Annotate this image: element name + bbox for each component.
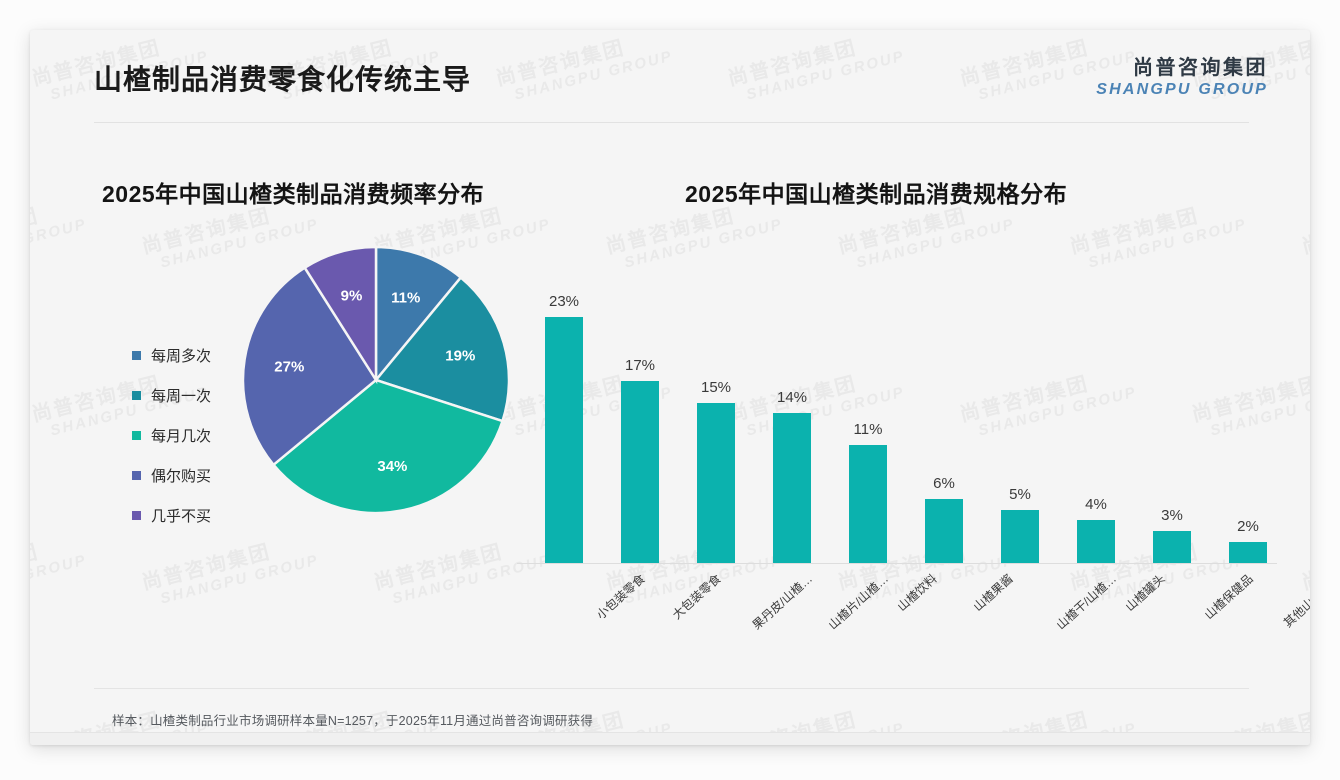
page-title: 山楂制品消费零食化传统主导 — [94, 58, 471, 98]
pie-legend-label: 每周一次 — [151, 385, 211, 406]
bar-category-label: 山楂饮料 — [893, 570, 940, 615]
source-note: 样本：山楂类制品行业市场调研样本量N=1257，于2025年11月通过尚普咨询调… — [112, 710, 593, 729]
pie-slice-value: 9% — [341, 288, 363, 305]
bar-rect[interactable] — [1229, 542, 1267, 563]
legend-swatch-icon — [132, 511, 141, 520]
legend-swatch-icon — [132, 471, 141, 480]
bar-chart-baseline — [517, 563, 1277, 564]
bar-column[interactable] — [1133, 531, 1211, 563]
bar-value-label: 14% — [753, 389, 831, 406]
bar-category-label: 山楂罐头 — [1121, 570, 1168, 615]
brand-logo: 尚普咨询集团 SHANGPU GROUP — [1096, 57, 1268, 99]
bar-rect[interactable] — [849, 445, 887, 563]
pie-legend-item[interactable]: 每月几次 — [132, 415, 211, 455]
bar-rect[interactable] — [1077, 520, 1115, 563]
bar-column[interactable] — [677, 403, 755, 563]
slide-canvas: 尚普咨询集团SHANGPU GROUP尚普咨询集团SHANGPU GROUP尚普… — [30, 30, 1310, 745]
pie-legend-label: 每月几次 — [151, 425, 211, 446]
bar-column[interactable] — [905, 499, 983, 563]
bar-value-label: 6% — [905, 475, 983, 492]
bar-category-label: 山楂干/山楂… — [1052, 570, 1119, 633]
bar-category-label: 山楂保健品 — [1200, 570, 1256, 623]
bar-rect[interactable] — [925, 499, 963, 563]
pie-chart-svg: 11%19%34%27%9% — [226, 230, 526, 530]
header-divider — [94, 122, 1249, 123]
bar-value-label: 23% — [525, 293, 603, 310]
bar-column[interactable] — [601, 381, 679, 563]
bar-value-label: 17% — [601, 357, 679, 374]
bar-category-label: 山楂片/山楂… — [824, 570, 891, 633]
bar-rect[interactable] — [697, 403, 735, 563]
bar-rect[interactable] — [773, 413, 811, 563]
bar-value-label: 4% — [1057, 496, 1135, 513]
bar-column[interactable] — [525, 317, 603, 563]
pie-chart-title: 2025年中国山楂类制品消费频率分布 — [102, 175, 484, 209]
bar-value-label: 5% — [981, 486, 1059, 503]
legend-swatch-icon — [132, 351, 141, 360]
pie-chart-legend: 每周多次每周一次每月几次偶尔购买几乎不买 — [132, 335, 211, 535]
pie-slice-value: 34% — [377, 458, 407, 475]
pie-slice-value: 19% — [445, 348, 475, 365]
bar-rect[interactable] — [621, 381, 659, 563]
bar-chart-panel: 23%小包装零食17%大包装零食15%果丹皮/山楂…14%山楂片/山楂…11%山… — [485, 230, 1285, 650]
bar-category-label: 大包装零食 — [668, 570, 724, 623]
bar-column[interactable] — [829, 445, 907, 563]
bar-rect[interactable] — [1001, 510, 1039, 563]
bar-rect[interactable] — [1153, 531, 1191, 563]
pie-legend-label: 偶尔购买 — [151, 465, 211, 486]
bar-category-label: 小包装零食 — [592, 570, 648, 623]
bar-column[interactable] — [753, 413, 831, 563]
bar-rect[interactable] — [545, 317, 583, 563]
bar-column[interactable] — [981, 510, 1059, 563]
bar-value-label: 15% — [677, 379, 755, 396]
pie-slice-value: 27% — [274, 358, 304, 375]
bar-value-label: 2% — [1209, 518, 1287, 535]
bar-chart-title: 2025年中国山楂类制品消费规格分布 — [685, 175, 1067, 209]
slide-footer: ©2026.1 SHANGPU GROUP www.shangpu-china.… — [30, 733, 1310, 745]
brand-logo-cn: 尚普咨询集团 — [1096, 57, 1268, 80]
legend-swatch-icon — [132, 431, 141, 440]
pie-legend-item[interactable]: 几乎不买 — [132, 495, 211, 535]
legend-swatch-icon — [132, 391, 141, 400]
bar-value-label: 3% — [1133, 507, 1211, 524]
pie-legend-item[interactable]: 每周多次 — [132, 335, 211, 375]
pie-slice-value: 11% — [391, 289, 420, 306]
bar-category-label: 其他山楂制品 — [1279, 570, 1310, 631]
pie-legend-item[interactable]: 偶尔购买 — [132, 455, 211, 495]
slide-header: 山楂制品消费零食化传统主导 尚普咨询集团 SHANGPU GROUP — [30, 30, 1310, 122]
bar-column[interactable] — [1057, 520, 1135, 563]
pie-legend-item[interactable]: 每周一次 — [132, 375, 211, 415]
brand-logo-en: SHANGPU GROUP — [1096, 80, 1268, 99]
pie-chart-panel: 每周多次每周一次每月几次偶尔购买几乎不买 11%19%34%27%9% — [70, 230, 540, 630]
bar-value-label: 11% — [829, 421, 907, 438]
bar-category-label: 果丹皮/山楂… — [748, 570, 815, 633]
pie-legend-label: 每周多次 — [151, 345, 211, 366]
bar-column[interactable] — [1209, 542, 1287, 563]
note-divider — [94, 688, 1249, 689]
pie-legend-label: 几乎不买 — [151, 505, 211, 526]
watermark-tile: 尚普咨询集团SHANGPU GROUP — [1300, 195, 1310, 275]
bar-category-label: 山楂果酱 — [969, 570, 1016, 615]
